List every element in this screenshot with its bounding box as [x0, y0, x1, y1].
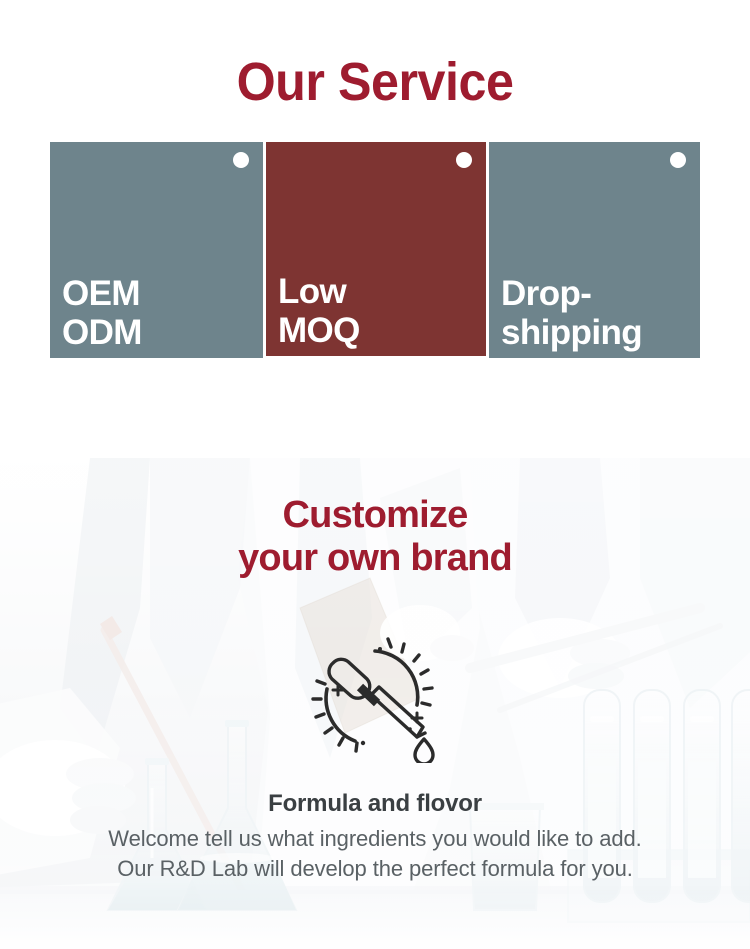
hero-body-line: Welcome tell us what ingredients you wou… [0, 826, 750, 852]
white-dot-icon [233, 152, 249, 168]
page-root: Our Service OEM ODM Low MOQ Drop- shippi… [0, 0, 750, 949]
white-dot-icon [670, 152, 686, 168]
service-cards-row: OEM ODM Low MOQ Drop- shipping [50, 142, 700, 358]
service-card-oem-odm[interactable]: OEM ODM [50, 142, 263, 358]
white-dot-icon [456, 152, 472, 168]
service-card-label: Low MOQ [278, 272, 486, 350]
customize-hero-section: Customize your own brand [0, 458, 750, 949]
hero-subtitle: Formula and flovor [0, 790, 750, 818]
hero-body-line: Our R&D Lab will develop the perfect for… [0, 856, 750, 882]
page-title: Our Service [26, 55, 724, 109]
hero-heading: Customize your own brand [0, 494, 750, 579]
our-service-section: Our Service OEM ODM Low MOQ Drop- shippi… [0, 0, 750, 458]
service-card-label: Drop- shipping [501, 274, 700, 352]
service-card-dropshipping[interactable]: Drop- shipping [489, 142, 700, 358]
service-card-label: OEM ODM [62, 274, 263, 352]
service-card-low-moq[interactable]: Low MOQ [266, 142, 486, 356]
dropper-pipette-icon [305, 633, 455, 763]
